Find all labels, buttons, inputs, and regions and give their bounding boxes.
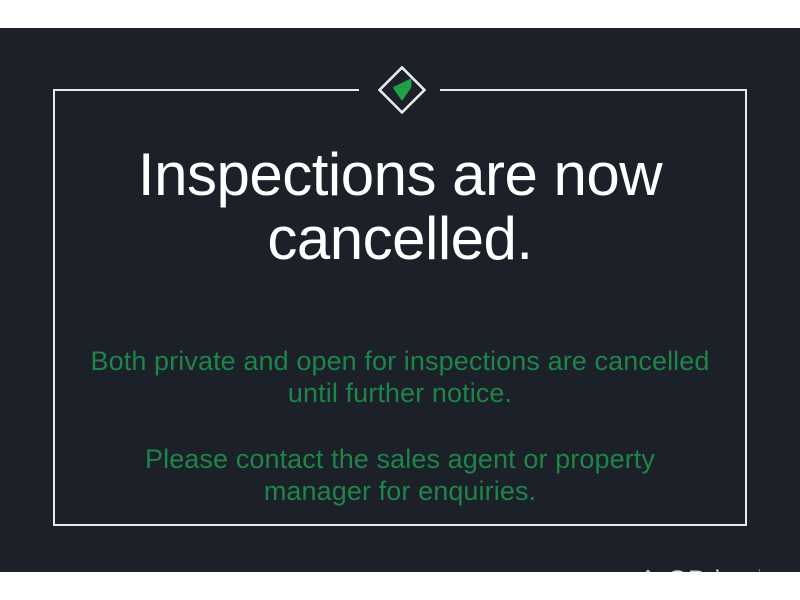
brand-sub-name-text: CLARK: [768, 572, 800, 573]
brand-separator: [759, 569, 760, 572]
brand-name-text: OBrien: [667, 567, 750, 573]
notice-paragraph-enquiries: Please contact the sales agent or proper…: [90, 443, 710, 507]
page-title: Inspections are now cancelled.: [100, 143, 700, 271]
brand-logo: OBrien CLARK: [636, 564, 800, 572]
brand-diamond-icon: [636, 568, 660, 572]
notice-panel: Inspections are now cancelled. Both priv…: [0, 28, 800, 572]
notice-paragraph-inspections: Both private and open for inspections ar…: [90, 345, 710, 409]
notice-content: Inspections are now cancelled. Both priv…: [53, 89, 747, 526]
notice-page: Inspections are now cancelled. Both priv…: [0, 0, 800, 600]
